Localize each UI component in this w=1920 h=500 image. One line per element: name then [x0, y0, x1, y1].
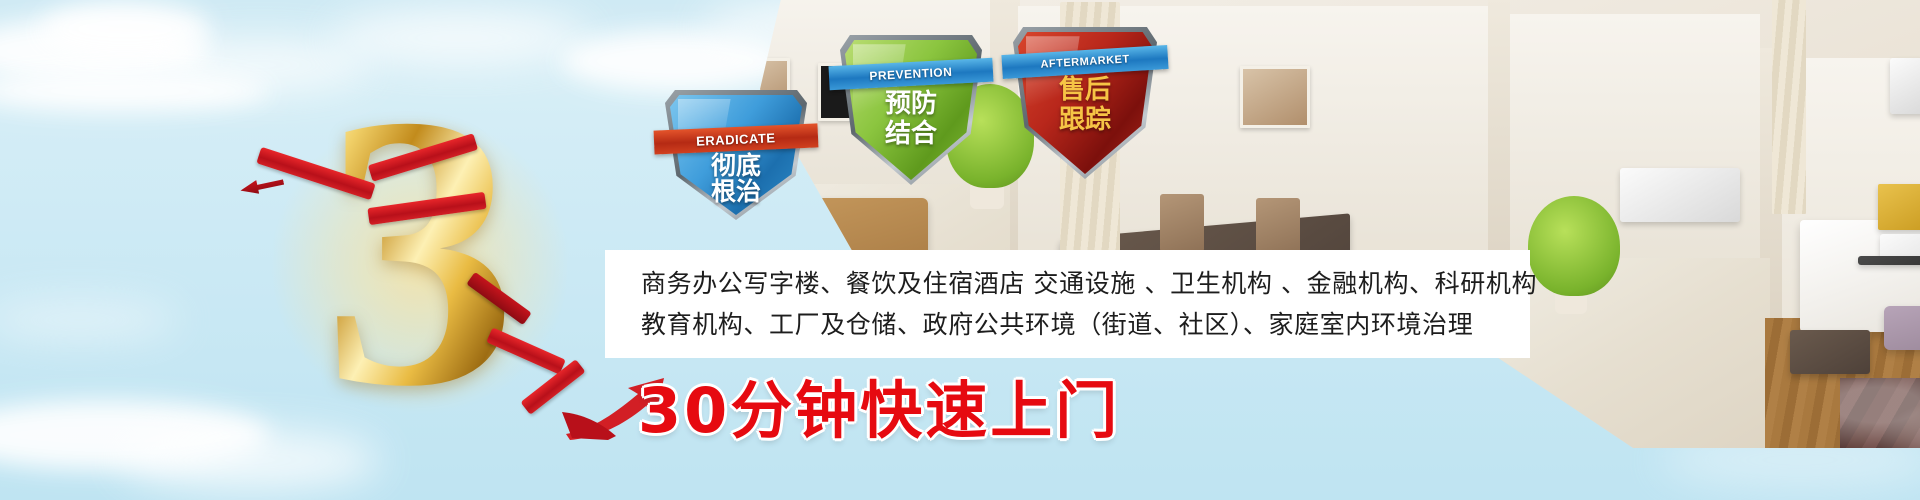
service-scope-panel: 商务办公写字楼、餐饮及住宿酒店 交通设施 、卫生机构 、金融机构、科研机构 教育…	[605, 250, 1530, 358]
shield-cn-line1: 彻底	[670, 153, 802, 179]
shield-cn-line2: 根治	[670, 179, 802, 205]
promo-banner: 3 ERADICATE 彻底 根治 PREVENTION 预防 结合	[0, 0, 1920, 500]
headline-text: 30分钟快速上门	[638, 360, 1120, 450]
shield-eradicate: ERADICATE 彻底 根治	[670, 95, 802, 215]
shield-aftermarket: AFTERMARKET 售后 跟踪	[1018, 32, 1152, 174]
shield-cn-line1: 售后	[1018, 76, 1152, 103]
shield-cn-line2: 结合	[845, 120, 977, 147]
service-line-2: 教育机构、工厂及仓储、政府公共环境（街道、社区）、家庭室内环境治理	[641, 304, 1530, 345]
shield-cn-line2: 跟踪	[1018, 106, 1152, 133]
service-line-1: 商务办公写字楼、餐饮及住宿酒店 交通设施 、卫生机构 、金融机构、科研机构	[641, 263, 1530, 304]
shield-cn-line1: 预防	[845, 90, 977, 117]
golden-three-numeral: 3	[250, 95, 590, 435]
shield-prevention: PREVENTION 预防 结合	[845, 40, 977, 180]
